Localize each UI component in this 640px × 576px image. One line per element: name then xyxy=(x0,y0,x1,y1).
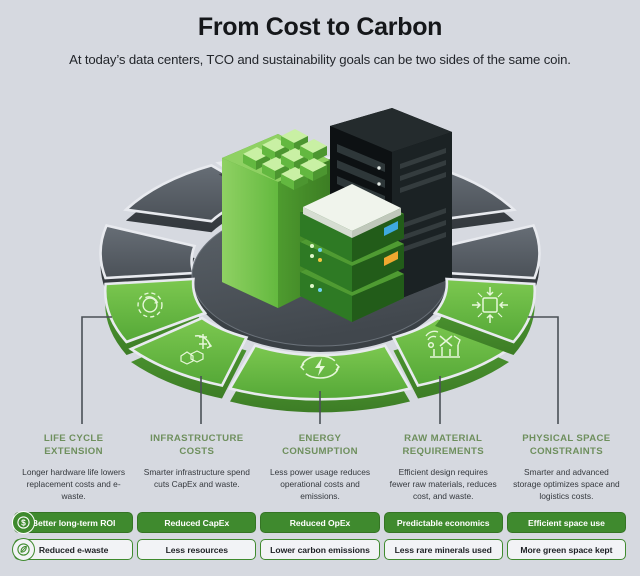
badge-efficient-space-use[interactable]: Efficient space use xyxy=(507,512,626,533)
heading-line-2: REQUIREMENTS xyxy=(384,446,503,459)
column-description: Less power usage reduces operational cos… xyxy=(260,466,379,503)
badge-reduced-capex[interactable]: Reduced CapEx xyxy=(137,512,256,533)
badge-less-resources[interactable]: Less resources xyxy=(137,539,256,560)
header: From Cost to Carbon At today’s data cent… xyxy=(0,0,640,67)
badge-reduced-opex[interactable]: Reduced OpEx xyxy=(260,512,379,533)
heading-line-1: RAW MATERIAL xyxy=(384,433,503,446)
center-equipment xyxy=(222,108,452,322)
column-energy-consumption: ENERGY CONSUMPTION Less power usage redu… xyxy=(260,433,379,502)
heading-line-1: PHYSICAL SPACE xyxy=(507,433,626,446)
dollar-glyph: $ xyxy=(17,516,30,529)
badge-cell: Reduced OpEx xyxy=(260,512,379,533)
badge-cell: Predictable economics xyxy=(384,512,503,533)
diagram-svg xyxy=(0,86,640,431)
page-title: From Cost to Carbon xyxy=(0,14,640,42)
badge-predictable-economics[interactable]: Predictable economics xyxy=(384,512,503,533)
badge-more-green-space-kept[interactable]: More green space kept xyxy=(507,539,626,560)
page-subtitle: At today’s data centers, TCO and sustain… xyxy=(0,52,640,67)
column-heading: PHYSICAL SPACE CONSTRAINTS xyxy=(507,433,626,459)
infographic-root: From Cost to Carbon At today’s data cent… xyxy=(0,0,640,576)
leaf-icon xyxy=(12,538,35,561)
column-raw-material-requirements: RAW MATERIAL REQUIREMENTS Efficient desi… xyxy=(384,433,503,502)
cycle-diagram xyxy=(0,86,640,426)
heading-line-1: ENERGY xyxy=(260,433,379,446)
badge-cell: Reduced CapEx xyxy=(137,512,256,533)
leaf-glyph xyxy=(17,543,30,556)
column-description: Efficient design requires fewer raw mate… xyxy=(384,466,503,503)
column-infrastructure-costs: INFRASTRUCTURE COSTS Smarter infrastruct… xyxy=(137,433,256,502)
heading-line-2: CONSTRAINTS xyxy=(507,446,626,459)
column-life-cycle-extension: LIFE CYCLE EXTENSION Longer hardware lif… xyxy=(14,433,133,502)
badge-less-rare-minerals-used[interactable]: Less rare minerals used xyxy=(384,539,503,560)
badge-cell: Reduced e-waste xyxy=(14,539,133,560)
badge-cell: $ Better long-term ROI xyxy=(14,512,133,533)
column-heading: LIFE CYCLE EXTENSION xyxy=(14,433,133,459)
badge-cell: Less rare minerals used xyxy=(384,539,503,560)
column-description: Smarter and advanced storage optimizes s… xyxy=(507,466,626,503)
heading-line-1: LIFE CYCLE xyxy=(14,433,133,446)
benefit-badges: $ Better long-term ROI Reduced CapEx Red… xyxy=(0,512,640,566)
category-columns: LIFE CYCLE EXTENSION Longer hardware lif… xyxy=(0,433,640,502)
heading-line-2: CONSUMPTION xyxy=(260,446,379,459)
ring-segments xyxy=(101,108,540,412)
green-stacked-servers xyxy=(300,184,404,322)
badge-cell: Efficient space use xyxy=(507,512,626,533)
heading-line-2: EXTENSION xyxy=(14,446,133,459)
dollar-icon: $ xyxy=(12,511,35,534)
heading-line-1: INFRASTRUCTURE xyxy=(137,433,256,446)
connector-lifecycle xyxy=(82,317,112,424)
column-physical-space-constraints: PHYSICAL SPACE CONSTRAINTS Smarter and a… xyxy=(507,433,626,502)
column-description: Smarter infrastructure spend cuts CapEx … xyxy=(137,466,256,490)
badge-lower-carbon-emissions[interactable]: Lower carbon emissions xyxy=(260,539,379,560)
badge-row-sustainability: Reduced e-waste Less resources Lower car… xyxy=(14,539,626,560)
column-description: Longer hardware life lowers replacement … xyxy=(14,466,133,503)
badge-cell: More green space kept xyxy=(507,539,626,560)
column-heading: RAW MATERIAL REQUIREMENTS xyxy=(384,433,503,459)
column-heading: ENERGY CONSUMPTION xyxy=(260,433,379,459)
column-heading: INFRASTRUCTURE COSTS xyxy=(137,433,256,459)
badge-row-cost: $ Better long-term ROI Reduced CapEx Red… xyxy=(14,512,626,533)
connector-space xyxy=(528,317,558,424)
heading-line-2: COSTS xyxy=(137,446,256,459)
badge-cell: Lower carbon emissions xyxy=(260,539,379,560)
badge-cell: Less resources xyxy=(137,539,256,560)
svg-text:$: $ xyxy=(21,518,26,528)
